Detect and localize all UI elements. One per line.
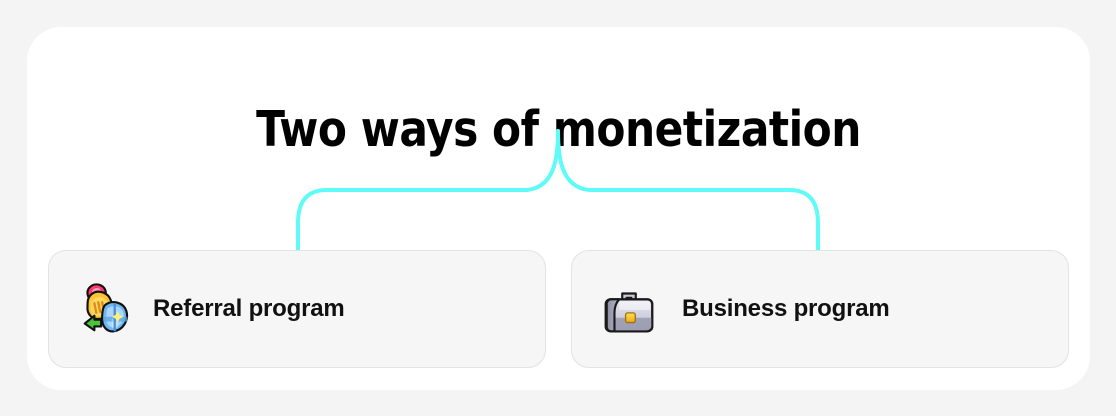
card-referral-program[interactable]: Referral program xyxy=(48,250,546,368)
screenshot-root: Two ways of monetization xyxy=(0,0,1116,416)
knight-helmet-icon xyxy=(75,278,137,340)
card-label-business-program: Business program xyxy=(682,295,890,323)
page-title: Two ways of monetization xyxy=(48,104,1068,155)
content-panel: Two ways of monetization xyxy=(27,27,1090,390)
briefcase-icon xyxy=(598,278,660,340)
card-label-referral-program: Referral program xyxy=(153,295,345,323)
card-business-program[interactable]: Business program xyxy=(571,250,1069,368)
program-card-list: Referral program xyxy=(48,250,1069,368)
